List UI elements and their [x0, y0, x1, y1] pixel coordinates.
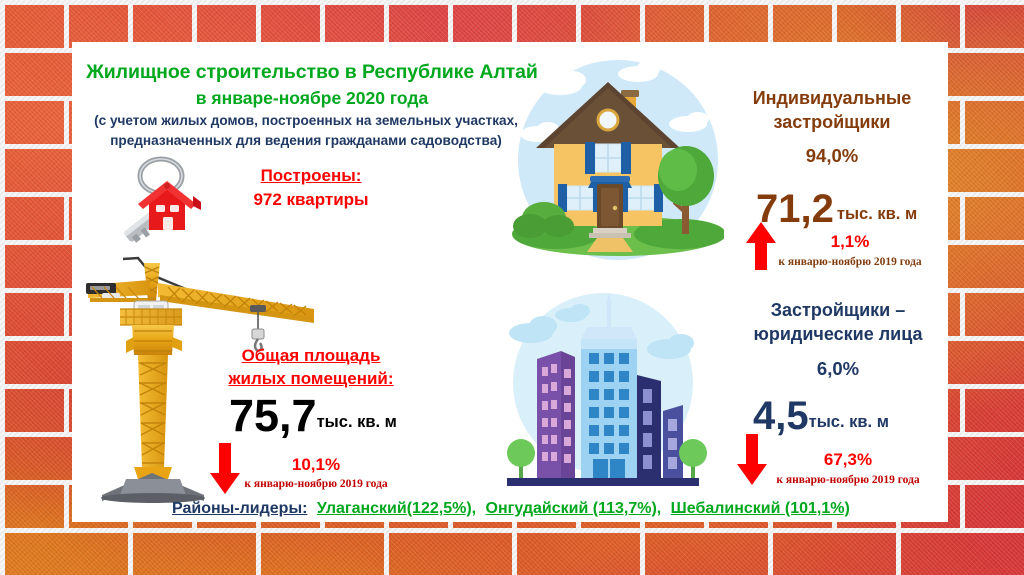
total-area-change-pct: 10,1% [292, 455, 340, 475]
arrow-down-icon-legal [735, 434, 769, 486]
total-area-change-note: к январю-ноябрю 2019 года [244, 478, 387, 490]
leader-item-2: Онгудайский (113,7%), [481, 500, 662, 517]
leader-item-3: Шебалинский (101,1%) [666, 500, 850, 517]
built-value: 972 квартиры [253, 190, 368, 210]
page-title-line1: Жилищное строительство в Республике Алта… [86, 61, 538, 84]
leader-item-1: Улаганский(122,5%), [312, 500, 476, 517]
private-house-illustration [512, 52, 724, 272]
house-keychain-icon [105, 152, 217, 257]
individual-change-note: к январю-ноябрю 2019 года [778, 256, 921, 268]
page-subtitle-line2: предназначенных для ведения гражданами с… [110, 133, 502, 148]
total-area-label-line2: жилых помещений: [228, 369, 393, 389]
page-title-line2: в январе-ноябре 2020 года [196, 88, 428, 109]
individual-share: 94,0% [806, 145, 858, 167]
individual-heading-line1: Индивидуальные [753, 88, 912, 109]
legal-change-pct: 67,3% [824, 450, 872, 470]
legal-share: 6,0% [817, 358, 859, 380]
legal-heading-line2: юридические лица [753, 324, 922, 345]
total-area-unit: тыс. кв. м [317, 413, 397, 431]
individual-change-pct: 1,1% [831, 232, 870, 252]
legal-unit: тыс. кв. м [809, 413, 889, 431]
page-subtitle-line1: (с учетом жилых домов, построенных на зе… [94, 113, 518, 128]
arrow-up-icon-individual [744, 222, 778, 270]
total-area-value: 75,7 [229, 390, 317, 441]
leaders-label: Районы-лидеры: [172, 500, 307, 517]
individual-unit: тыс. кв. м [834, 205, 917, 223]
arrow-down-icon-total-area [208, 443, 242, 495]
legal-value: 4,5 [753, 394, 809, 438]
apartment-buildings-illustration [485, 283, 707, 493]
infographic-root: Жилищное строительство в Республике Алта… [0, 0, 1024, 575]
built-label: Построены: [261, 166, 362, 186]
legal-change-note: к январю-ноябрю 2019 года [776, 474, 919, 486]
total-area-label-line1: Общая площадь [242, 346, 381, 366]
legal-heading-line1: Застройщики – [771, 300, 906, 321]
individual-heading-line2: застройщики [774, 112, 891, 133]
